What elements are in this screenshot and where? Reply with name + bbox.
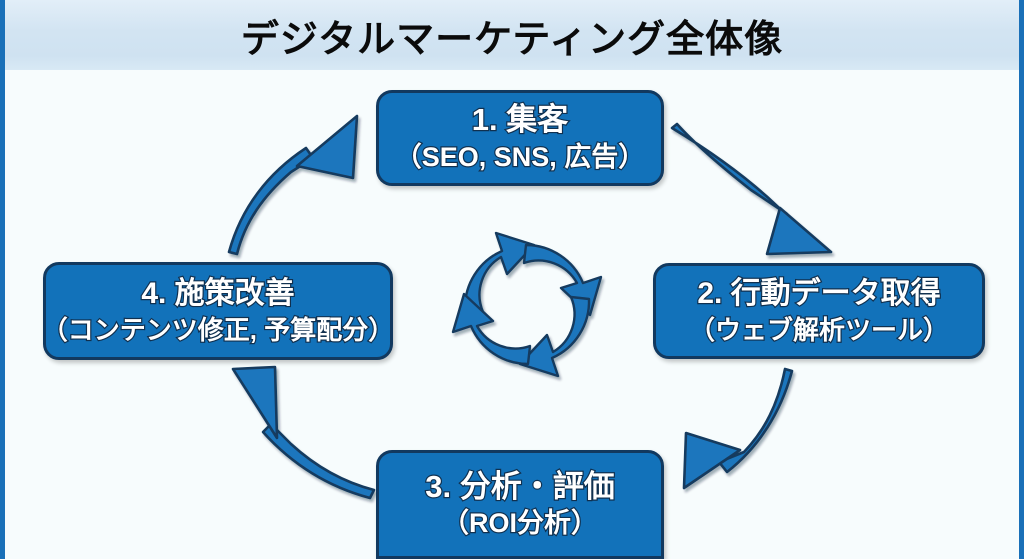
cycle-node-1[interactable]: 1. 集客 （SEO, SNS, 広告） — [376, 90, 664, 186]
cycle-node-3-title: 3. 分析・評価 — [425, 469, 614, 506]
cycle-node-2[interactable]: 2. 行動データ取得 （ウェブ解析ツール） — [653, 263, 985, 359]
cycle-node-4[interactable]: 4. 施策改善 （コンテンツ修正, 予算配分） — [43, 262, 393, 360]
arrow-1-to-2 — [672, 124, 831, 254]
arrow-3-to-4 — [233, 367, 374, 498]
circular-arrows-icon — [453, 233, 601, 376]
diagram-canvas: デジタルマーケティング全体像 — [0, 0, 1024, 559]
arrow-4-to-1 — [229, 116, 357, 254]
cycle-node-4-subtitle: （コンテンツ修正, 予算配分） — [42, 315, 394, 346]
arrow-2-to-3 — [684, 369, 792, 488]
cycle-node-1-subtitle: （SEO, SNS, 広告） — [395, 142, 646, 174]
cycle-node-2-subtitle: （ウェブ解析ツール） — [689, 315, 949, 346]
page-title: デジタルマーケティング全体像 — [5, 0, 1019, 70]
cycle-node-1-title: 1. 集客 — [472, 102, 568, 139]
cycle-node-2-title: 2. 行動データ取得 — [697, 276, 940, 311]
cycle-node-3[interactable]: 3. 分析・評価 （ROI分析） — [376, 450, 664, 559]
cycle-node-4-title: 4. 施策改善 — [141, 276, 294, 311]
cycle-node-3-subtitle: （ROI分析） — [442, 508, 598, 540]
